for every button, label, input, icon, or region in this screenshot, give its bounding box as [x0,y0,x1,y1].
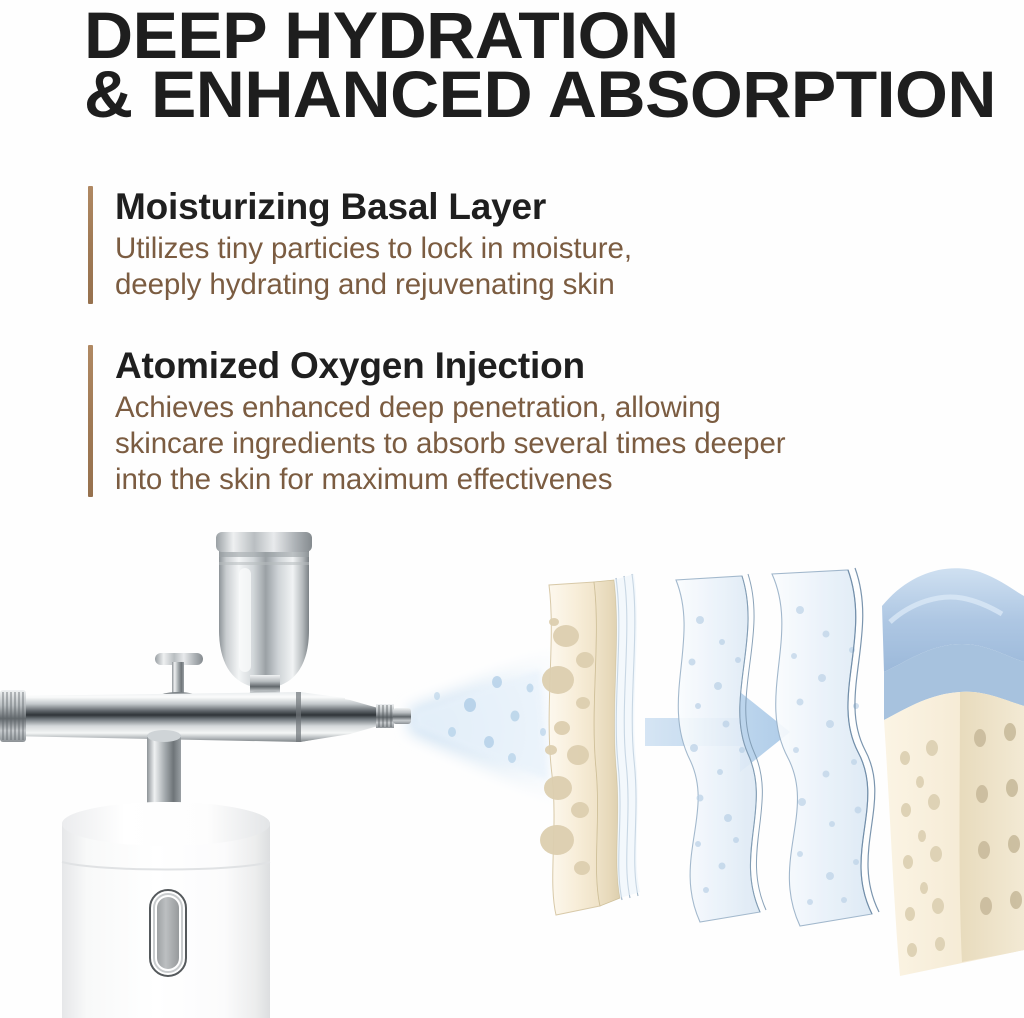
promo-image-root: DEEP HYDRATION & ENHANCED ABSORPTION Moi… [0,0,1024,1018]
feature-heading: Atomized Oxygen Injection [115,345,975,387]
headline-line-2: & ENHANCED ABSORPTION [84,64,1011,123]
nozzle-tip [393,708,411,724]
airbrush-front-taper [300,692,378,742]
feature-body: Utilizes tiny particies to lock in moist… [115,228,975,303]
cup-ring-1 [219,552,309,557]
feature-text-group: Atomized Oxygen Injection Achieves enhan… [115,345,975,498]
airbrush-nozzle-tip [376,704,411,728]
skin-layer-membrane [676,574,766,922]
feature-accent-bar [88,345,93,497]
cup-ring-2 [219,562,309,565]
device-base-unit [62,802,270,1018]
skin-cross-section-diagram [540,568,1024,976]
cup-body [219,548,309,688]
feature-text-group: Moisturizing Basal Layer Utilizes tiny p… [115,186,975,303]
barrel-seam [296,692,301,742]
base-top-cap [62,802,270,846]
membrane-inner-face [772,570,872,926]
page-title: DEEP HYDRATION & ENHANCED ABSORPTION [84,0,1011,123]
epidermis-membrane-fill [614,574,640,898]
airbrush-knurled-collar [0,690,26,742]
headline-line-1: DEEP HYDRATION [84,0,1011,64]
skin-layer-epidermis [540,574,640,915]
cup-highlight [239,568,251,672]
feature-heading: Moisturizing Basal Layer [115,186,975,228]
skin-layer-membrane-inner [772,568,879,926]
skin-block-3d [882,568,1024,976]
product-illustration [0,510,1024,1018]
feature-body: Achieves enhanced deep penetration, allo… [115,387,975,498]
airbrush-handpiece [0,532,411,830]
feature-accent-bar [88,186,93,304]
cup-rim [216,532,312,552]
airbrush-paint-cup [216,532,312,702]
